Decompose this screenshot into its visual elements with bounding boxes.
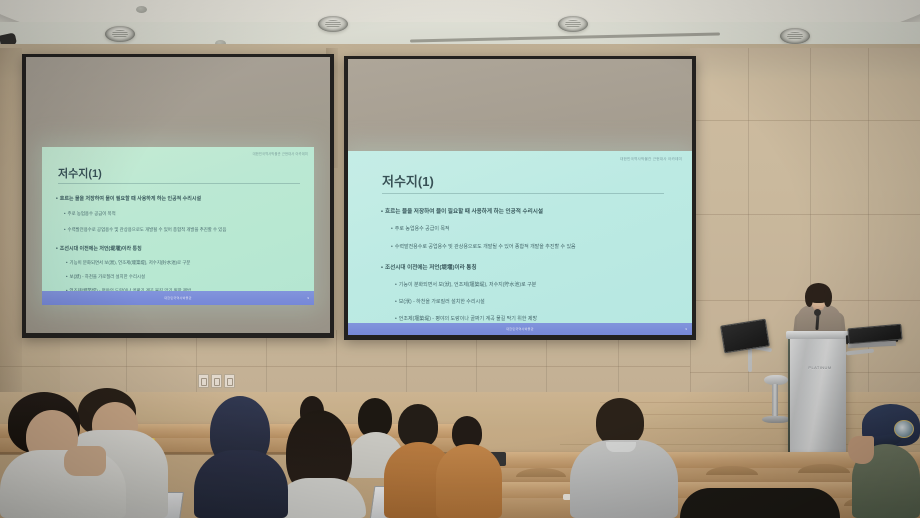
audience-body (194, 450, 288, 518)
podium-worktop (786, 331, 850, 339)
bullet-marker: • (66, 274, 68, 279)
left-slide-content: 대한민국역사박물관 근현대사 아카데미 저수지(1) •흐르는 물을 저장하여 … (42, 147, 314, 305)
slide-bullet-4: •조선시대 이전에는 저언(堤堰)이라 통칭 (56, 245, 142, 252)
bullet-text: 보(洑) - 하천을 가로질러 설치한 수리시설 (399, 299, 485, 305)
bullet-marker: • (395, 299, 397, 305)
bullet-marker: • (64, 227, 66, 232)
bullet-marker: • (391, 226, 393, 232)
bullet-marker: • (56, 246, 58, 252)
slide-footer-bar: 대한민국역사박물관 9 (348, 323, 692, 335)
slide-title: 저수지(1) (382, 171, 434, 190)
wall-seam-2 (690, 214, 920, 215)
audience-face-profile (848, 436, 874, 464)
bullet-text: 기능이 분화되면서 보(洑), 언조제(堰築堤), 저수지(貯水池)로 구분 (399, 282, 537, 288)
cap-patch-icon (894, 420, 914, 438)
bullet-marker: • (56, 196, 58, 202)
audience-body (0, 450, 126, 518)
bullet-marker: • (64, 211, 66, 216)
slide-bullet-5: •기능이 분화되면서 보(洑), 언조제(堰築堤), 저수지(貯水池)로 구분 (395, 281, 536, 288)
bullet-text: 조선시대 이전에는 저언(堤堰)이라 통칭 (385, 265, 477, 271)
microphone-icon (814, 309, 821, 316)
right-slide-content: 대한민국역사박물관 근현대사 아카데미 저수지(1) •흐르는 물을 저장하여 … (348, 151, 692, 335)
slide-bullet-2: •주로 농업용수 공급이 목적 (64, 211, 116, 217)
bullet-marker: • (66, 260, 68, 265)
slide-page-number: 9 (685, 327, 687, 331)
wall-outlet-1[interactable] (198, 374, 209, 388)
wall-outlet-2[interactable] (211, 374, 222, 388)
ceiling-light-2 (318, 16, 348, 32)
slide-title-rule (58, 183, 300, 184)
bullet-text: 조선시대 이전에는 저언(堤堰)이라 통칭 (60, 246, 142, 252)
wall-panel-10 (406, 340, 477, 394)
right-projection-screen[interactable]: 대한민국역사박물관 근현대사 아카데미 저수지(1) •흐르는 물을 저장하여 … (348, 59, 692, 335)
ceiling-light-1 (105, 26, 135, 42)
bullet-text: 주로 농업용수 공급이 목적 (68, 211, 116, 216)
wall-column-left (0, 48, 22, 394)
ceiling-fixture-7 (136, 6, 147, 13)
wall-panel-11 (476, 340, 547, 394)
bullet-text: 보(洑) - 하천을 가로질러 설치한 수리시설 (70, 274, 145, 279)
slide-bullet-6: •보(洑) - 하천을 가로질러 설치한 수리시설 (395, 298, 485, 305)
wall-outlet-3[interactable] (224, 374, 235, 388)
slide-bullet-6: •보(洑) - 하천을 가로질러 설치한 수리시설 (66, 274, 145, 280)
wall-panel-12 (546, 340, 619, 394)
bullet-text: 언조제(堰築堤) - 평야의 도랑이나 골짜기 계곡 물길 막기 위한 제방 (399, 316, 537, 322)
slide-page-number: 9 (307, 296, 309, 300)
podium-logo: PLATINUM (800, 364, 840, 372)
slide-bullet-1: •흐르는 물을 저장하여 물이 필요할 때 사용하게 하는 인공적 수리시설 (56, 195, 201, 202)
bullet-text: 흐르는 물을 저장하여 물이 필요할 때 사용하게 하는 인공적 수리시설 (60, 196, 201, 202)
slide-header-label: 대한민국역사박물관 근현대사 아카데미 (253, 151, 308, 156)
bullet-text: 수력발전용수로 공업용수 및 관상용으로도 개발될 수 있어 종합적 개발을 추… (68, 227, 227, 232)
slide-bullet-3: •수력발전용수로 공업용수 및 관상용으로도 개발될 수 있어 종합적 개발을 … (391, 243, 576, 250)
clasped-hands (64, 446, 106, 476)
slide-bullet-4: •조선시대 이전에는 저언(堤堰)이라 통칭 (381, 263, 477, 271)
slide-footer-bar: 대한민국역사박물관 9 (42, 291, 314, 305)
bullet-text: 기능이 분화되면서 보(洑), 언조제(堰築堤), 저수지(貯水池)로 구분 (70, 260, 191, 265)
slide-bullet-1: •흐르는 물을 저장하여 물이 필요할 때 사용하게 하는 인공적 수리시설 (381, 207, 543, 215)
monitor-arm-left-vertical (748, 348, 752, 372)
ceiling-light-3 (558, 16, 588, 32)
slide-header-label: 대한민국역사박물관 근현대사 아카데미 (620, 157, 682, 162)
floor-plank-1 (600, 402, 920, 403)
slide-title: 저수지(1) (58, 165, 102, 181)
bullet-marker: • (395, 282, 397, 288)
desk-row-front (454, 482, 920, 498)
slide-bullet-3: •수력발전용수로 공업용수 및 관상용으로도 개발될 수 있어 종합적 개발을 … (64, 227, 226, 233)
presenter-stool-post (772, 384, 778, 418)
slide-footer-text: 대한민국역사박물관 (164, 296, 192, 300)
slide-bullet-7: •언조제(堰築堤) - 평야의 도랑이나 골짜기 계곡 물길 막기 위한 제방 (395, 315, 537, 322)
wall-panel-8 (266, 330, 337, 394)
wall-panel-6 (126, 330, 197, 394)
bullet-text: 수력발전용수로 공업용수 및 관상용으로도 개발될 수 있어 종합적 개발을 추… (395, 244, 576, 250)
ceiling-light-4 (780, 28, 810, 44)
slide-bullet-2: •주로 농업용수 공급이 목적 (391, 225, 450, 232)
foreground-shoulder (680, 488, 840, 518)
bullet-marker: • (395, 316, 397, 322)
wall-panel-5 (60, 330, 127, 394)
presenter-stool-base (762, 416, 790, 423)
slide-footer-text: 대한민국역사박물관 (506, 327, 534, 331)
wall-seam-1 (690, 120, 920, 121)
presenter-hair-left (805, 290, 813, 307)
bullet-marker: • (391, 244, 393, 250)
bullet-text: 흐르는 물을 저장하여 물이 필요할 때 사용하게 하는 인공적 수리시설 (385, 209, 543, 215)
bullet-marker: • (381, 265, 383, 271)
bullet-marker: • (381, 209, 383, 215)
collar (606, 442, 636, 452)
wall-seam-4 (0, 366, 690, 367)
audience-hair (596, 398, 644, 446)
left-projection-screen[interactable]: 대한민국역사박물관 근현대사 아카데미 저수지(1) •흐르는 물을 저장하여 … (26, 57, 330, 333)
audience-body (436, 444, 502, 518)
slide-bullet-5: •기능이 분화되면서 보(洑), 언조제(堰築堤), 저수지(貯水池)로 구분 (66, 260, 190, 266)
slide-title-rule (382, 193, 664, 194)
bullet-text: 주로 농업용수 공급이 목적 (395, 226, 450, 232)
wall-panel-13 (618, 340, 691, 394)
lecture-hall-photo: 대한민국역사박물관 근현대사 아카데미 저수지(1) •흐르는 물을 저장하여 … (0, 0, 920, 518)
wall-panel-9 (336, 340, 407, 394)
